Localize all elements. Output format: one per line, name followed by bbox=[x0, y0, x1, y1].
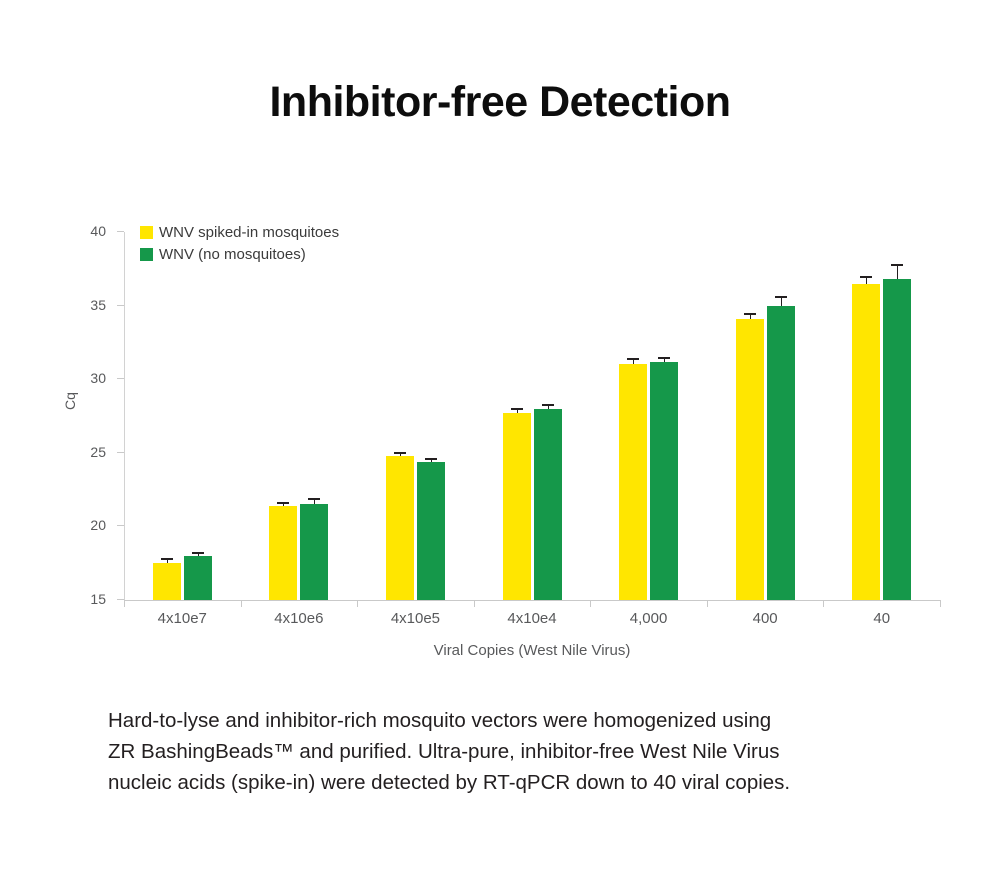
bar-yellow bbox=[386, 456, 414, 600]
bar-yellow bbox=[153, 563, 181, 600]
error-bar-cap bbox=[542, 404, 554, 406]
bar-green bbox=[534, 409, 562, 600]
error-bar-stem bbox=[314, 500, 315, 504]
bar-yellow bbox=[269, 506, 297, 600]
error-bar-cap bbox=[161, 558, 173, 560]
bar-yellow bbox=[619, 364, 647, 600]
caption-line: nucleic acids (spike-in) were detected b… bbox=[108, 767, 898, 798]
x-axis-tick-label: 4x10e4 bbox=[507, 610, 556, 627]
y-axis-tick: 25 bbox=[117, 452, 124, 453]
bar-green bbox=[184, 556, 212, 600]
bar-green bbox=[650, 362, 678, 600]
bar-yellow bbox=[852, 284, 880, 600]
legend-swatch-icon bbox=[140, 226, 153, 239]
y-axis-tick-label: 40 bbox=[90, 223, 106, 239]
y-axis-tick: 30 bbox=[117, 378, 124, 379]
error-bar-stem bbox=[633, 360, 634, 364]
bar-yellow bbox=[503, 413, 531, 600]
y-axis-tick: 35 bbox=[117, 305, 124, 306]
chart-legend: WNV spiked-in mosquitoesWNV (no mosquito… bbox=[140, 221, 339, 265]
error-bar-stem bbox=[664, 359, 665, 361]
x-axis-tick-label: 4x10e7 bbox=[158, 610, 207, 627]
chart-figure: Cq 152025303540 4x10e74x10e64x10e54x10e4… bbox=[0, 205, 1000, 675]
y-axis-title: Cq bbox=[62, 392, 78, 410]
error-bar-stem bbox=[400, 454, 401, 456]
x-axis-separator bbox=[241, 600, 242, 607]
x-axis-separator bbox=[474, 600, 475, 607]
x-axis-separator bbox=[357, 600, 358, 607]
y-axis-tick-label: 35 bbox=[90, 297, 106, 313]
y-axis-tick-label: 15 bbox=[90, 591, 106, 607]
legend-item[interactable]: WNV spiked-in mosquitoes bbox=[140, 221, 339, 243]
x-axis-separator bbox=[707, 600, 708, 607]
error-bar-stem bbox=[548, 406, 549, 408]
x-axis-tick-label: 400 bbox=[753, 610, 778, 627]
error-bar-stem bbox=[866, 278, 867, 283]
legend-label: WNV spiked-in mosquitoes bbox=[159, 224, 339, 241]
error-bar-stem bbox=[167, 560, 168, 563]
x-axis-tick-label: 4,000 bbox=[630, 610, 668, 627]
bar-green bbox=[883, 279, 911, 600]
bar-yellow bbox=[736, 319, 764, 600]
error-bar-cap bbox=[425, 458, 437, 460]
x-axis-separator bbox=[940, 600, 941, 607]
bar-green bbox=[767, 306, 795, 600]
error-bar-stem bbox=[897, 266, 898, 279]
error-bar-stem bbox=[517, 410, 518, 413]
error-bar-cap bbox=[627, 358, 639, 360]
x-axis-tick-label: 4x10e5 bbox=[391, 610, 440, 627]
legend-item[interactable]: WNV (no mosquitoes) bbox=[140, 243, 339, 265]
error-bar-cap bbox=[277, 502, 289, 504]
y-axis-tick: 40 bbox=[117, 231, 124, 232]
page-title: Inhibitor-free Detection bbox=[0, 78, 1000, 127]
error-bar-cap bbox=[775, 296, 787, 298]
chart-page: Inhibitor-free Detection Cq 152025303540… bbox=[0, 0, 1000, 875]
caption-line: Hard-to-lyse and inhibitor-rich mosquito… bbox=[108, 705, 898, 736]
error-bar-cap bbox=[394, 452, 406, 454]
caption-line: ZR BashingBeads™ and purified. Ultra-pur… bbox=[108, 736, 898, 767]
x-axis-separator bbox=[823, 600, 824, 607]
legend-swatch-icon bbox=[140, 248, 153, 261]
error-bar-stem bbox=[750, 315, 751, 319]
figure-caption: Hard-to-lyse and inhibitor-rich mosquito… bbox=[108, 705, 898, 798]
y-axis-tick-label: 25 bbox=[90, 444, 106, 460]
error-bar-cap bbox=[891, 264, 903, 266]
x-axis-separator bbox=[124, 600, 125, 607]
bar-green bbox=[300, 504, 328, 600]
error-bar-stem bbox=[431, 460, 432, 461]
error-bar-cap bbox=[511, 408, 523, 410]
x-axis-separator bbox=[590, 600, 591, 607]
error-bar-cap bbox=[192, 552, 204, 554]
x-axis-title: Viral Copies (West Nile Virus) bbox=[124, 642, 940, 659]
error-bar-stem bbox=[283, 504, 284, 506]
plot-area: 152025303540 bbox=[124, 232, 940, 600]
bar-green bbox=[417, 462, 445, 600]
error-bar-cap bbox=[658, 357, 670, 359]
y-axis-tick-label: 20 bbox=[90, 517, 106, 533]
y-axis-tick: 15 bbox=[117, 599, 124, 600]
error-bar-cap bbox=[744, 313, 756, 315]
error-bar-cap bbox=[860, 276, 872, 278]
x-axis-tick-label: 4x10e6 bbox=[274, 610, 323, 627]
error-bar-cap bbox=[308, 498, 320, 500]
error-bar-stem bbox=[198, 554, 199, 556]
x-axis-tick-label: 40 bbox=[873, 610, 890, 627]
y-axis-tick-label: 30 bbox=[90, 370, 106, 386]
y-axis-tick: 20 bbox=[117, 525, 124, 526]
x-axis-line bbox=[124, 600, 940, 601]
error-bar-stem bbox=[781, 298, 782, 305]
legend-label: WNV (no mosquitoes) bbox=[159, 246, 306, 263]
